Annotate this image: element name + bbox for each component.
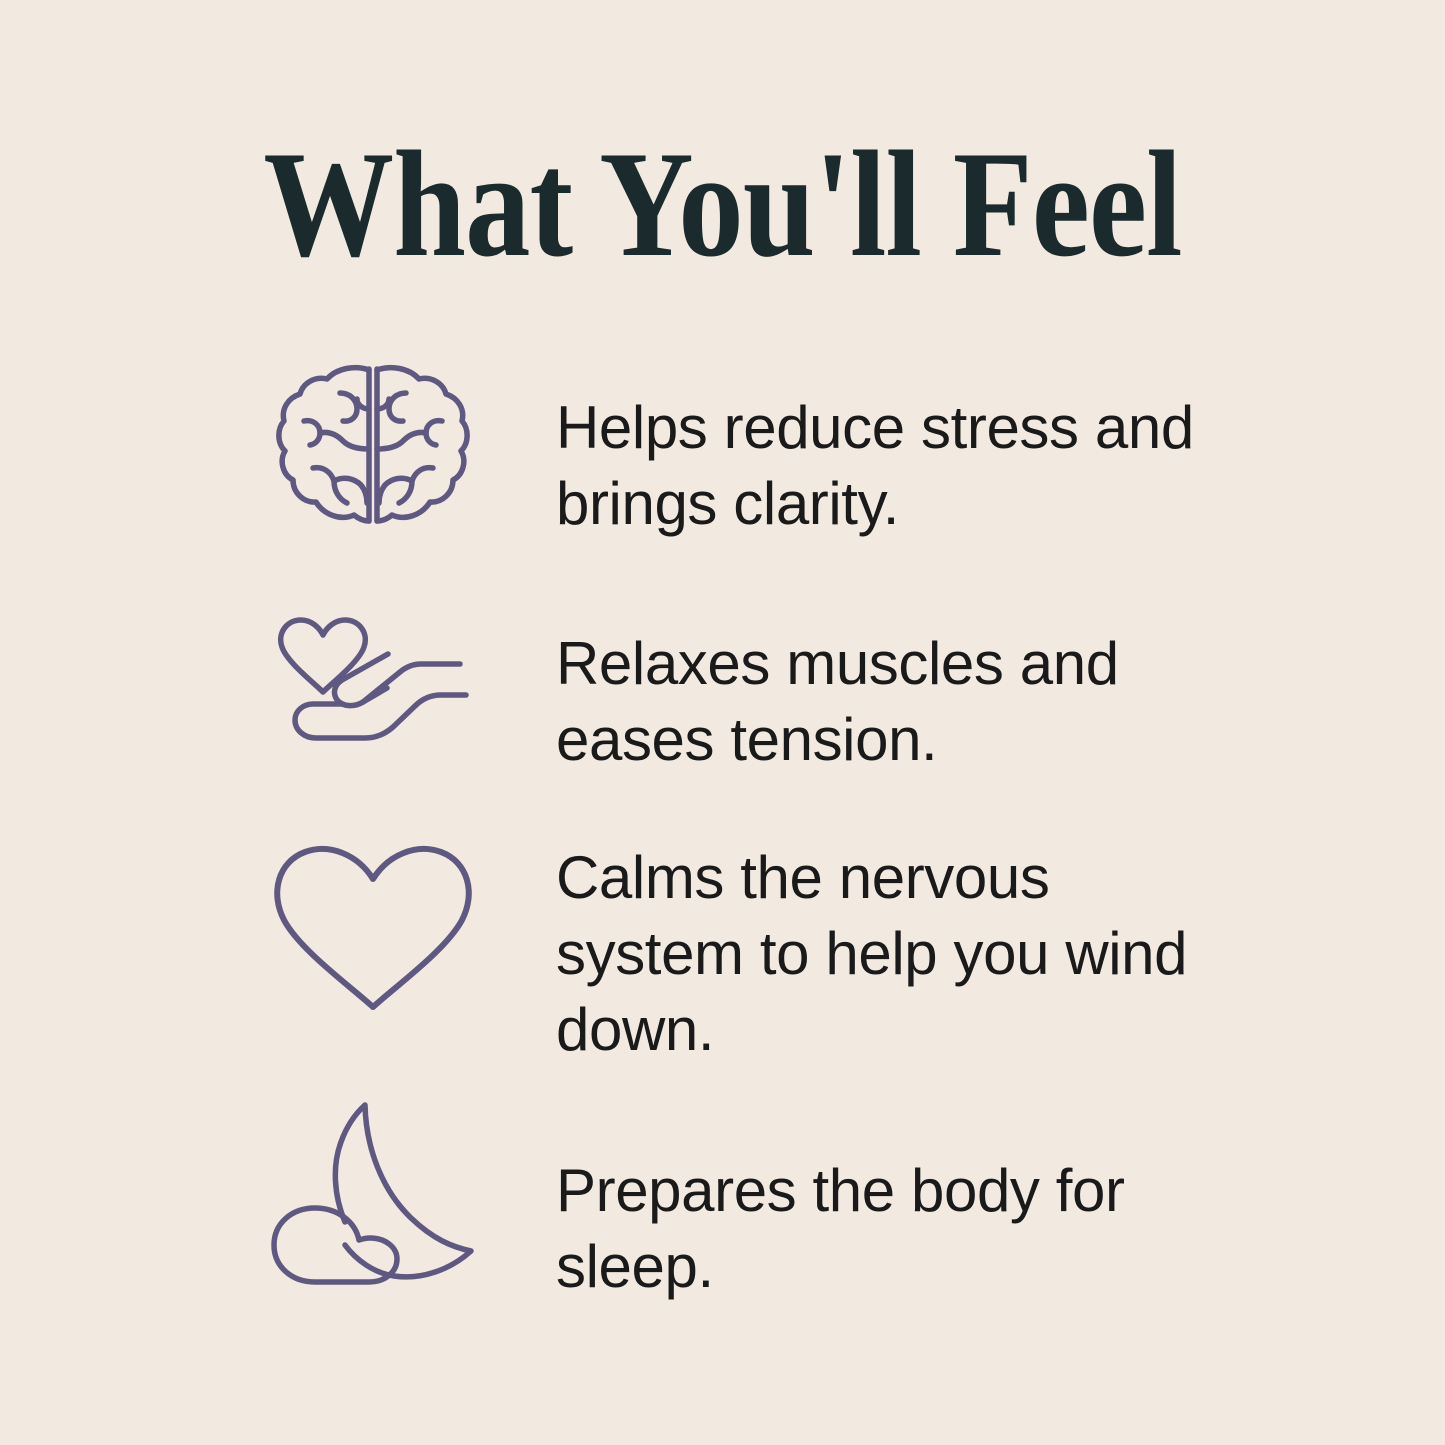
list-item: Calms the nervous system to help you win…: [265, 840, 1265, 1068]
list-item-label: Calms the nervous system to help you win…: [556, 840, 1226, 1068]
list-item: Helps reduce stress and brings clarity.: [265, 360, 1265, 542]
list-item: Prepares the body for sleep.: [265, 1095, 1265, 1305]
heart-in-hand-icon: [265, 610, 480, 755]
heart-outline-icon: [265, 840, 480, 1015]
benefits-poster: What You'll Feel: [0, 0, 1445, 1445]
list-item-label: Helps reduce stress and brings clarity.: [556, 360, 1226, 542]
list-item: Relaxes muscles and eases tension.: [265, 610, 1265, 778]
crescent-moon-cloud-icon: [265, 1095, 480, 1290]
list-item-label: Relaxes muscles and eases tension.: [556, 610, 1226, 778]
list-item-label: Prepares the body for sleep.: [556, 1095, 1226, 1305]
brain-icon: [265, 360, 480, 530]
page-title: What You'll Feel: [101, 128, 1344, 280]
